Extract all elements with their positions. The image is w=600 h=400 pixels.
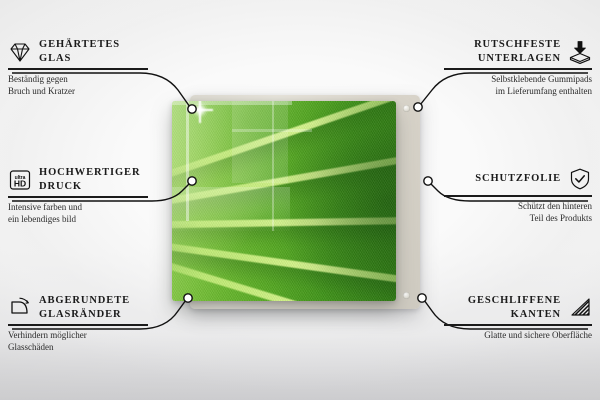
callout-title: DRUCK (39, 180, 140, 194)
rubber-pad-bottom-right (403, 292, 410, 299)
callout-high-quality-print: ultra HD HOCHWERTIGER DRUCK Intensive fa… (8, 166, 148, 225)
callout-subtitle: Glasschäden (8, 341, 148, 353)
callout-title: GEHÄRTETES (39, 38, 120, 52)
rubber-pad-top-right (403, 105, 410, 112)
callout-rule (444, 324, 592, 326)
ultra-hd-icon: ultra HD (8, 168, 32, 192)
callout-subtitle: Schützt den hinteren (444, 200, 592, 212)
callout-subtitle: Glatte und sichere Oberfläche (444, 329, 592, 341)
callout-title: GLASRÄNDER (39, 308, 130, 322)
callout-rounded-glass-edges: ABGERUNDETE GLASRÄNDER Verhindern möglic… (8, 294, 148, 353)
callout-subtitle: im Lieferumfang enthalten (444, 85, 592, 97)
hatched-triangle-icon (568, 296, 592, 320)
diamond-icon (8, 40, 32, 64)
callout-subtitle: Intensive farben und (8, 201, 148, 213)
callout-subtitle: Bruch und Kratzer (8, 85, 148, 97)
callout-title: GLAS (39, 52, 120, 66)
callout-title: UNTERLAGEN (474, 52, 561, 66)
rounded-corner-icon (8, 296, 32, 320)
product-image (172, 93, 420, 311)
callout-title: HOCHWERTIGER (39, 166, 140, 180)
callout-rule (8, 68, 148, 70)
callout-subtitle: Selbstklebende Gummipads (444, 73, 592, 85)
callout-subtitle: Beständig gegen (8, 73, 148, 85)
callout-subtitle: ein lebendiges bild (8, 213, 148, 225)
callout-subtitle: Teil des Produkts (444, 212, 592, 224)
callout-protective-film: SCHUTZFOLIE Schützt den hinteren Teil de… (444, 166, 592, 224)
callout-rule (444, 68, 592, 70)
callout-subtitle: Verhindern möglicher (8, 329, 148, 341)
svg-text:HD: HD (14, 178, 26, 188)
glass-sheen (172, 101, 396, 301)
shield-check-icon (568, 167, 592, 191)
callout-title: ABGERUNDETE (39, 294, 130, 308)
callout-rule (8, 324, 148, 326)
callout-rule (8, 196, 148, 198)
callout-title: GESCHLIFFENE (468, 294, 561, 308)
callout-rule (444, 195, 592, 197)
callout-title: RUTSCHFESTE (474, 38, 561, 52)
glass-front-panel (172, 101, 396, 301)
callout-non-slip-pads: RUTSCHFESTE UNTERLAGEN Selbstklebende Gu… (444, 38, 592, 97)
callout-polished-edges: GESCHLIFFENE KANTEN Glatte und sichere O… (444, 294, 592, 341)
press-pad-icon (568, 40, 592, 64)
infographic-canvas: GEHÄRTETES GLAS Beständig gegen Bruch un… (0, 0, 600, 400)
callout-title: SCHUTZFOLIE (475, 172, 561, 186)
callout-tempered-glass: GEHÄRTETES GLAS Beständig gegen Bruch un… (8, 38, 148, 97)
callout-title: KANTEN (468, 308, 561, 322)
